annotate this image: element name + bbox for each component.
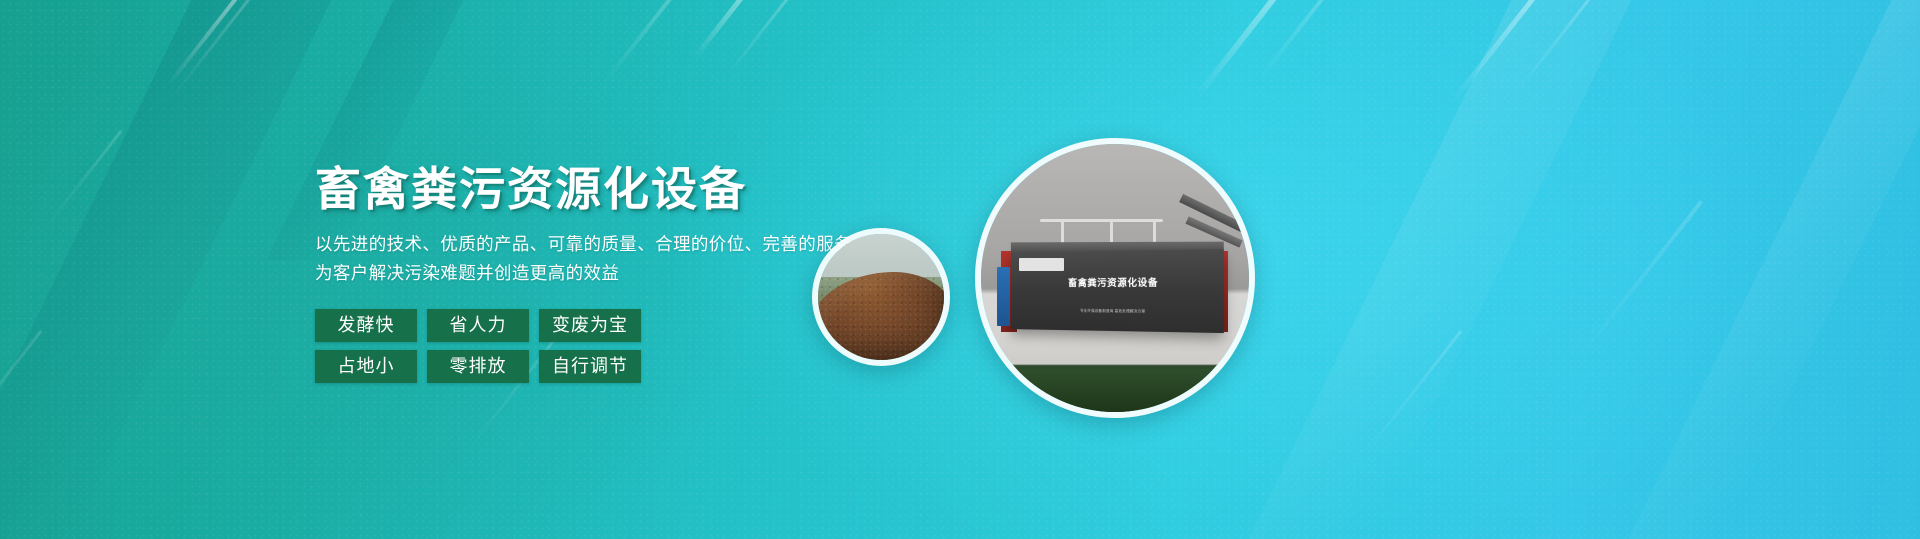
compost-pile-shape [812,272,950,366]
feature-button-labor-saving[interactable]: 省人力 [427,309,529,342]
compost-pile-photo [812,228,950,366]
compost-texture [812,272,950,366]
decor-streak-8 [1258,0,1354,81]
decor-streak-2 [170,0,265,100]
decor-streak-9 [1449,0,1564,105]
decor-streak-4 [604,0,693,83]
feature-button-fast-fermentation[interactable]: 发酵快 [315,309,417,342]
equipment-grass [981,369,1249,412]
equipment-photo: 畜禽粪污资源化设备 专业环保设备制造商 高效处理解决方案 [975,138,1255,418]
decor-streak-5 [692,0,764,60]
decor-streak-1 [166,0,243,87]
feature-button-waste-to-treasure[interactable]: 变废为宝 [539,309,641,342]
feature-button-self-adjusting[interactable]: 自行调节 [539,350,641,383]
decor-streak-14 [0,330,42,458]
decor-streak-6 [726,0,802,76]
equipment-machine-label: 畜禽粪污资源化设备 [1011,274,1224,289]
equipment-top-pipe [1040,219,1163,222]
equipment-control-cabinet [997,267,1010,326]
feature-button-small-footprint[interactable]: 占地小 [315,350,417,383]
decor-streak-7 [1195,0,1304,98]
decor-streak-12 [1361,330,1462,458]
decor-wedge-left-1 [0,0,331,539]
decor-streak-11 [1577,200,1703,360]
equipment-machine-sublabel: 专业环保设备制造商 高效处理解决方案 [1011,308,1224,315]
decor-wedge-right-2 [1629,0,1920,539]
equipment-logo-plate [1019,258,1065,271]
decor-streak-3 [46,130,122,226]
promo-banner: 畜禽粪污资源化设备 以先进的技术、优质的产品、可靠的质量、合理的价位、完善的服务… [0,0,1920,539]
decor-streak-10 [1518,0,1613,90]
decor-wedge-right-1 [1249,0,1632,539]
background-noise-texture [0,0,1920,539]
feature-button-grid: 发酵快 省人力 变废为宝 占地小 零排放 自行调节 [315,309,649,383]
feature-button-zero-emission[interactable]: 零排放 [427,350,529,383]
page-title: 畜禽粪污资源化设备 [315,163,935,216]
